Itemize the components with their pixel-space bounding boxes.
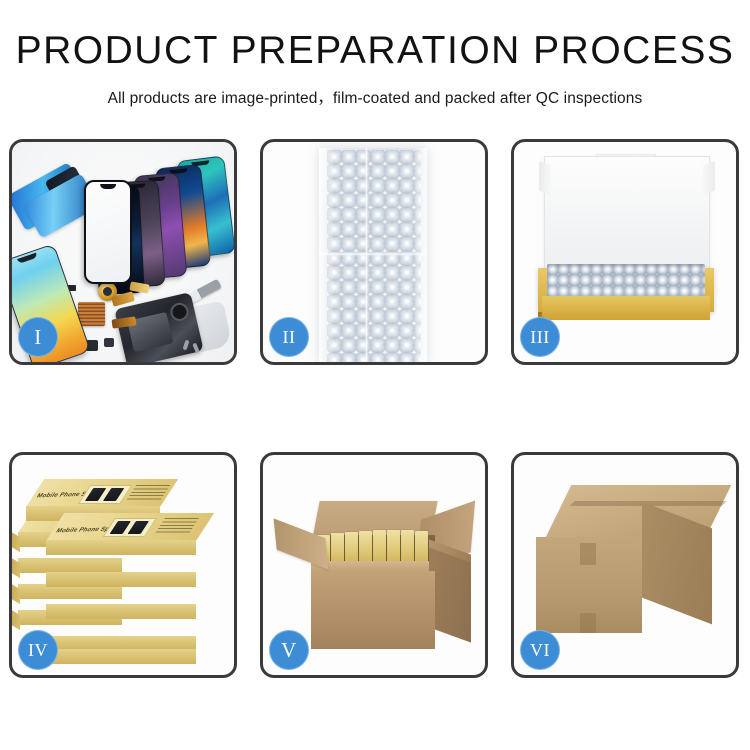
step-number-badge: II (269, 317, 309, 357)
step-number-badge: I (18, 317, 58, 357)
retail-box-top: Mobile Phone Spare Parts (46, 513, 214, 541)
circuit-grid-icon (78, 302, 105, 326)
step-panel-4: Mobile Phone Spare Parts Mobile Phone Sp… (9, 452, 237, 678)
step-panel-1: I (9, 139, 237, 365)
carton-tape (580, 613, 596, 633)
retail-box-product-image (103, 518, 157, 537)
bubble-wrap-icon (319, 148, 427, 362)
product-preparation-infographic: PRODUCT PREPARATION PROCESS All products… (0, 0, 750, 750)
sealed-carton-icon (536, 485, 718, 645)
carton-side (429, 547, 471, 642)
step-number-badge: IV (18, 630, 58, 670)
plastic-sheen (319, 148, 335, 362)
open-shipping-carton-icon (277, 495, 473, 663)
screen-protector-icon (84, 180, 132, 284)
steps-grid: I II (9, 139, 740, 678)
page-title: PRODUCT PREPARATION PROCESS (0, 31, 750, 70)
box-tray-front (542, 296, 710, 320)
retail-box-spec-lines (155, 518, 199, 534)
step-panel-6: VI (511, 452, 739, 678)
carton-tape (580, 543, 596, 565)
retail-box-spec-lines (126, 485, 170, 501)
bubble-texture (327, 150, 421, 362)
plastic-sheen (413, 148, 427, 362)
retail-box-top: Mobile Phone Spare Parts (26, 479, 178, 507)
bubble-wrapped-contents (547, 264, 705, 298)
step-number-badge: III (520, 317, 560, 357)
step-number-badge: VI (520, 630, 560, 670)
step-panel-3: III (511, 139, 739, 365)
page-subtitle: All products are image-printed，film-coat… (0, 86, 750, 108)
retail-box-product-image (78, 485, 132, 504)
step-panel-2: II (260, 139, 488, 365)
step-panel-5: V (260, 452, 488, 678)
header: PRODUCT PREPARATION PROCESS All products… (0, 0, 750, 108)
step-number-badge: V (269, 630, 309, 670)
screws-icon (182, 338, 206, 356)
open-inner-box-icon (538, 156, 714, 342)
wrap-seam (319, 252, 427, 256)
chip-icon (104, 338, 114, 347)
carton-front (311, 571, 435, 649)
